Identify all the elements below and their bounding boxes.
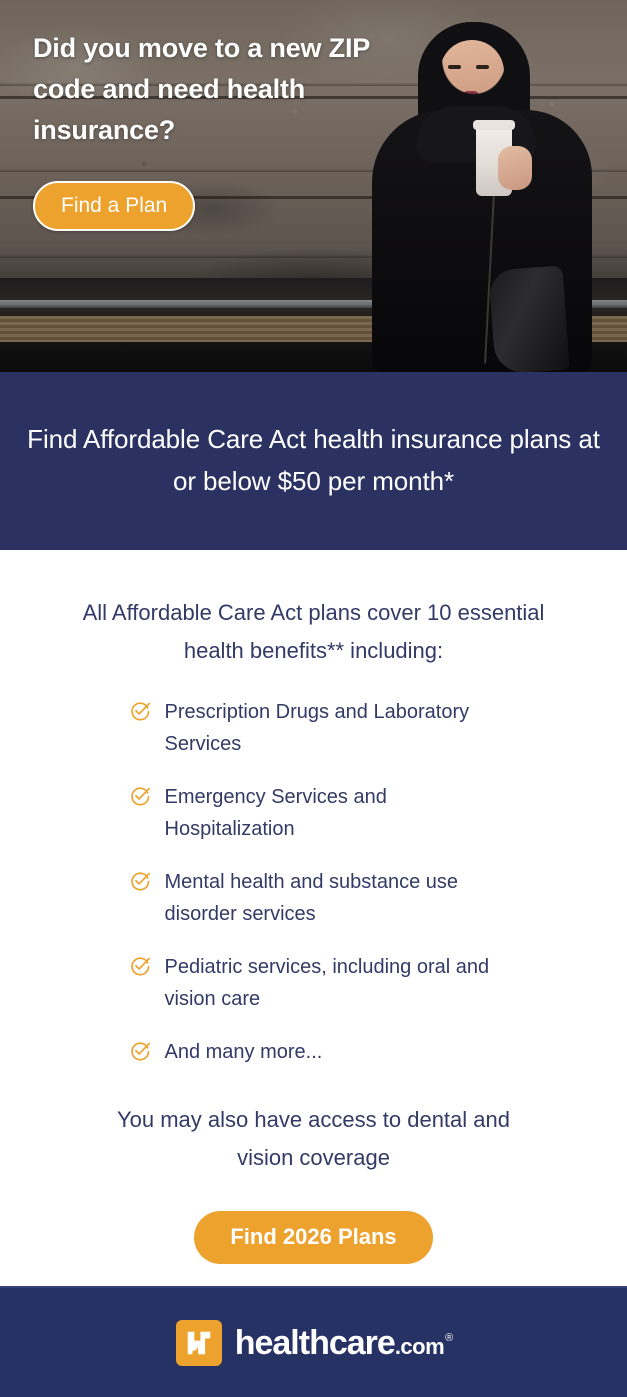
promo-banner-text: Find Affordable Care Act health insuranc…	[26, 418, 601, 502]
list-item-label: Prescription Drugs and Laboratory Servic…	[165, 696, 499, 760]
brand-tld: .com	[395, 1336, 444, 1358]
benefits-section: All Affordable Care Act plans cover 10 e…	[0, 550, 627, 1264]
hand-shape	[498, 146, 532, 190]
list-item-label: Mental health and substance use disorder…	[165, 866, 499, 930]
find-plans-button[interactable]: Find 2026 Plans	[194, 1211, 432, 1264]
registered-trademark-symbol: ®	[445, 1333, 452, 1344]
hero-content: Did you move to a new ZIP code and need …	[0, 0, 393, 231]
benefits-intro-text: All Affordable Care Act plans cover 10 e…	[54, 594, 574, 670]
closing-text: You may also have access to dental and v…	[114, 1101, 514, 1177]
list-item: Prescription Drugs and Laboratory Servic…	[129, 696, 499, 760]
hero-section: Did you move to a new ZIP code and need …	[0, 0, 627, 372]
list-item: Emergency Services and Hospitalization	[129, 781, 499, 845]
ad-landing-page: Did you move to a new ZIP code and need …	[0, 0, 627, 1397]
leg-shape	[488, 266, 569, 372]
coffee-cup-lid	[473, 120, 515, 130]
benefits-list: Prescription Drugs and Laboratory Servic…	[129, 696, 499, 1089]
list-item-label: Pediatric services, including oral and v…	[165, 951, 499, 1015]
woman-photo-subject	[372, 18, 592, 372]
list-item: Pediatric services, including oral and v…	[129, 951, 499, 1015]
list-item-label: And many more...	[165, 1036, 323, 1068]
footer: healthcare.com®	[0, 1286, 627, 1397]
brand-name: healthcare	[235, 1326, 395, 1360]
list-item: And many more...	[129, 1036, 499, 1068]
promo-banner: Find Affordable Care Act health insuranc…	[0, 372, 627, 550]
find-a-plan-button[interactable]: Find a Plan	[33, 181, 195, 231]
check-circle-icon	[129, 955, 151, 977]
healthcare-logo-wordmark: healthcare.com®	[235, 1326, 452, 1360]
check-circle-icon	[129, 785, 151, 807]
check-circle-icon	[129, 700, 151, 722]
hero-headline: Did you move to a new ZIP code and need …	[33, 28, 393, 151]
healthcare-logo-mark-icon	[176, 1320, 222, 1366]
check-circle-icon	[129, 1040, 151, 1062]
list-item: Mental health and substance use disorder…	[129, 866, 499, 930]
list-item-label: Emergency Services and Hospitalization	[165, 781, 499, 845]
check-circle-icon	[129, 870, 151, 892]
healthcare-logo[interactable]: healthcare.com®	[176, 1320, 452, 1366]
